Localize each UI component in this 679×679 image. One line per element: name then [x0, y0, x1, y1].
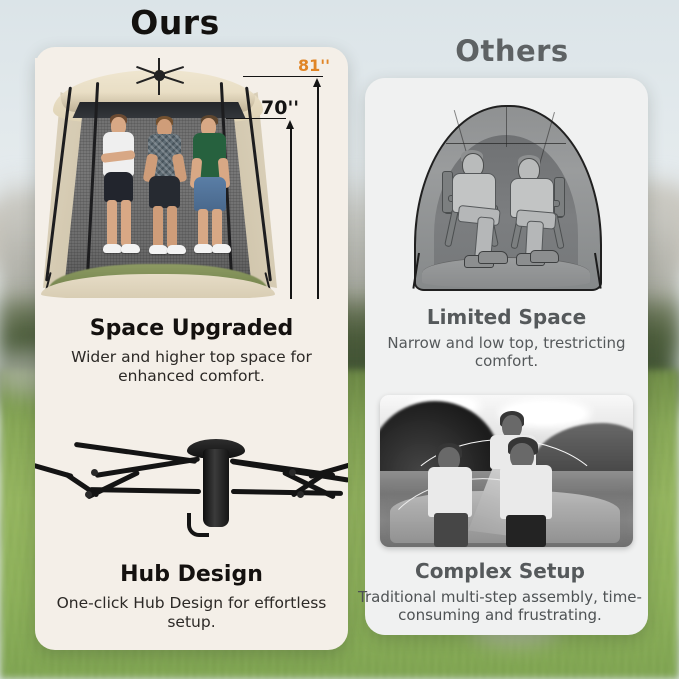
- person-1-shoe-left: [103, 244, 122, 253]
- dimension-70-label: 70'': [261, 97, 299, 119]
- chair-back-right: [554, 177, 565, 217]
- dimension-81-line: [317, 84, 319, 299]
- person-1-leg-right: [121, 200, 131, 246]
- ours-feature-2-title: Hub Design: [35, 562, 348, 587]
- others-feature-2-body: Traditional multi-step assembly, time-co…: [346, 588, 654, 625]
- card-ours: Space Upgraded Wider and higher top spac…: [35, 47, 348, 650]
- person-1-shoe-right: [121, 244, 140, 253]
- dome-panel-seam-2: [506, 105, 507, 147]
- heading-others: Others: [345, 34, 679, 68]
- dimension-81-label: 81'': [298, 56, 330, 75]
- person-2-shoe-left: [149, 245, 168, 254]
- ours-feature-2-body: One-click Hub Design for effortless setu…: [35, 594, 348, 632]
- others-feature-1-body: Narrow and low top, trestricting comfort…: [365, 334, 648, 371]
- heading-ours: Ours: [0, 3, 350, 42]
- ours-feature-1-title: Space Upgraded: [35, 316, 348, 341]
- dimension-81-arrow: [313, 78, 321, 87]
- tent-hub-spoke-5: [158, 75, 160, 95]
- ours-feature-1-body: Wider and higher top space for enhanced …: [35, 348, 348, 386]
- person-3-leg-right: [212, 209, 222, 247]
- person-2-leg-right: [167, 206, 177, 248]
- hub-joint-right-2: [297, 491, 304, 498]
- others-tent-illustration: [400, 105, 612, 290]
- photo-child-left-shirt: [428, 467, 472, 517]
- person-1-leg-left: [107, 200, 117, 246]
- others-feature-1-title: Limited Space: [365, 305, 648, 329]
- photo-child-right-pants: [506, 515, 546, 547]
- photo-child-left-pants: [434, 513, 468, 547]
- dimension-70-arrow: [286, 120, 294, 129]
- hub-joint-right-1: [289, 469, 296, 476]
- ours-hub-photo: [35, 425, 348, 551]
- others-feature-2-title: Complex Setup: [350, 559, 650, 583]
- hub-arm-outer-left: [35, 461, 74, 479]
- tent-roof-hub-icon: [130, 66, 188, 86]
- dimension-81-tick: [243, 76, 323, 77]
- hub-joint-left-2: [85, 491, 92, 498]
- dimension-70-line: [290, 126, 292, 299]
- card-others: Limited Space Narrow and low top, trestr…: [365, 78, 648, 635]
- tent-hub-spoke-6: [158, 58, 160, 75]
- person-2-shoe-right: [167, 245, 186, 254]
- person-2-leg-left: [153, 206, 163, 248]
- person-right-shoe-b: [530, 250, 559, 263]
- person-left-shoe-b: [478, 251, 508, 264]
- person-3-shoe-right: [212, 244, 231, 253]
- hub-arm-upper-left-2: [95, 456, 200, 478]
- hub-joint-left-1: [91, 469, 98, 476]
- ours-tent-photo: [35, 58, 281, 298]
- photo-child-right-shirt: [500, 465, 552, 519]
- comparison-infographic: Ours Others: [0, 0, 679, 679]
- hub-hook-icon: [187, 513, 209, 537]
- person-1-shorts: [104, 172, 133, 202]
- person-3-shorts: [194, 177, 226, 211]
- person-2-shorts: [149, 176, 180, 208]
- others-setup-photo: [380, 395, 633, 547]
- person-3-shoe-left: [194, 244, 213, 253]
- person-3-leg-left: [198, 209, 208, 247]
